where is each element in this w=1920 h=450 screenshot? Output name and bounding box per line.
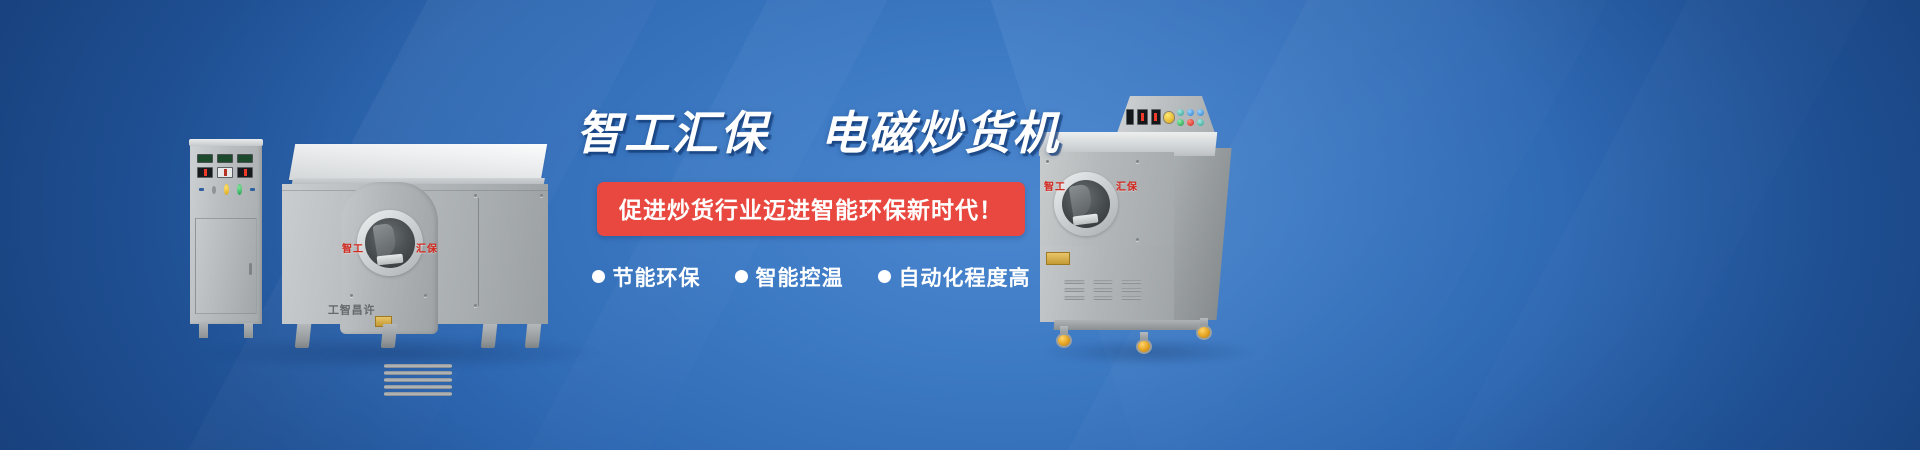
brand-text-huibao: 汇保 (1116, 178, 1138, 193)
left-machine-body: 智工 汇保 许昌智工 (282, 166, 548, 324)
louver (1093, 280, 1114, 284)
temperature-display (197, 167, 213, 178)
main-display (1126, 109, 1134, 125)
caster-wheel-tire (1196, 325, 1212, 340)
selector-knob (212, 186, 216, 194)
louver (1064, 280, 1085, 284)
spec-plate (1046, 252, 1070, 265)
meter-indicator (237, 154, 253, 163)
meter-row (197, 154, 255, 163)
cabinet-door-handle (249, 263, 252, 275)
rivet (474, 304, 477, 307)
feature-label: 智能控温 (756, 262, 844, 292)
drum-opening-ring (357, 210, 423, 276)
meter-indicator (217, 154, 233, 163)
rivet (1136, 160, 1139, 163)
banner-copy: 智工汇保 电磁炒货机 促进炒货行业迈进智能环保新时代！ 节能环保 智能控温 自动… (576, 108, 1046, 292)
drum-pan (377, 254, 404, 266)
caster-wheel-tire (1056, 333, 1072, 348)
indicator-button (1177, 119, 1184, 126)
feature-label: 节能环保 (613, 262, 701, 292)
button-label (250, 188, 255, 191)
caster-wheel (1056, 326, 1072, 348)
right-machine-upper-body: 智工 汇保 (1040, 152, 1174, 248)
bullet-dot-icon (592, 270, 605, 283)
door-seam (478, 198, 479, 306)
cabinet-vertical-brand-text: 许昌智工 (358, 304, 374, 324)
indicator-button (1177, 109, 1184, 116)
drum-opening (365, 218, 415, 268)
brand-text-zhigong: 智工 (342, 240, 364, 255)
louver (1121, 296, 1142, 300)
emergency-stop-button (1164, 112, 1174, 123)
banner-headline: 智工汇保 电磁炒货机 (576, 108, 1046, 160)
louver (1064, 288, 1085, 292)
indicator-button-row (1177, 119, 1204, 126)
rivet (350, 294, 353, 297)
louver (1064, 296, 1085, 300)
rivet (1046, 160, 1049, 163)
machine-lid (289, 144, 547, 180)
bullet-dot-icon (735, 270, 748, 283)
drum-vane (1069, 184, 1094, 219)
headline-brand: 智工汇保 (576, 106, 768, 160)
right-machine-vent-louvers (1064, 280, 1142, 300)
louver (384, 392, 452, 396)
feature-item-smart-temperature: 智能控温 (735, 262, 844, 292)
louver (384, 385, 452, 389)
louver (384, 378, 452, 382)
indicator-button (1197, 119, 1204, 126)
rivet (474, 194, 477, 197)
caster-wheel (1136, 332, 1152, 354)
louver (1093, 296, 1114, 300)
product-image-left-roaster: 智工 汇保 许昌智工 (190, 96, 590, 352)
indicator-button-row (1177, 109, 1204, 116)
start-button (237, 184, 242, 195)
cabinet-leg (244, 323, 253, 338)
caster-wheel-tire (1136, 339, 1152, 354)
feature-item-automation: 自动化程度高 (878, 262, 1031, 292)
meter-indicator (197, 154, 213, 163)
machine-foot (525, 324, 542, 348)
indicator-button (1187, 119, 1194, 126)
drum-opening (1062, 180, 1110, 228)
bullet-dot-icon (878, 270, 891, 283)
digital-display-row (197, 167, 255, 178)
left-machine-legs (282, 324, 548, 348)
louver (1121, 288, 1142, 292)
left-machine-control-cabinet (190, 144, 262, 324)
indicator-button (1197, 109, 1204, 116)
button-row (197, 184, 255, 195)
rivet (424, 294, 427, 297)
cabinet-leg (199, 323, 208, 338)
rivet (1136, 238, 1139, 241)
brand-text-huibao: 汇保 (416, 240, 438, 255)
louver (1121, 280, 1142, 284)
cabinet-door (195, 218, 257, 314)
indicator-button-grid (1177, 109, 1204, 126)
machine-foot (381, 324, 398, 348)
feature-item-energy-saving: 节能环保 (592, 262, 701, 292)
tagline-badge: 促进炒货行业迈进智能环保新时代！ (597, 182, 1025, 236)
temperature-display (237, 167, 253, 178)
temperature-display (1137, 109, 1147, 125)
tagline-row: 促进炒货行业迈进智能环保新时代！ (576, 182, 1046, 236)
headline-product: 电磁炒货机 (820, 106, 1060, 160)
right-machine-base-frame (1054, 320, 1205, 330)
caster-wheel (1196, 318, 1212, 340)
machine-foot (295, 324, 312, 348)
brand-text-zhigong: 智工 (1044, 178, 1066, 193)
rivet (540, 194, 543, 197)
indicator-button (1187, 109, 1194, 116)
temperature-display (217, 167, 233, 178)
louver (1093, 288, 1114, 292)
left-machine-vent-louvers (384, 364, 452, 396)
feature-list: 节能环保 智能控温 自动化程度高 (576, 262, 1046, 292)
drum-pan (1073, 214, 1099, 226)
louver (384, 364, 452, 368)
emergency-stop-button (224, 184, 229, 195)
feature-label: 自动化程度高 (899, 262, 1031, 292)
promo-banner: 智工 汇保 许昌智工 智工汇保 (0, 0, 1920, 450)
temperature-display (1151, 109, 1161, 125)
product-image-right-roaster: 智工 汇保 (1040, 96, 1250, 352)
button-label (199, 188, 204, 191)
louver (384, 371, 452, 375)
machine-foot (481, 324, 498, 348)
left-machine-control-panel (197, 154, 255, 206)
right-machine-control-panel (1126, 105, 1204, 129)
cabinet-top-edge (189, 139, 263, 146)
